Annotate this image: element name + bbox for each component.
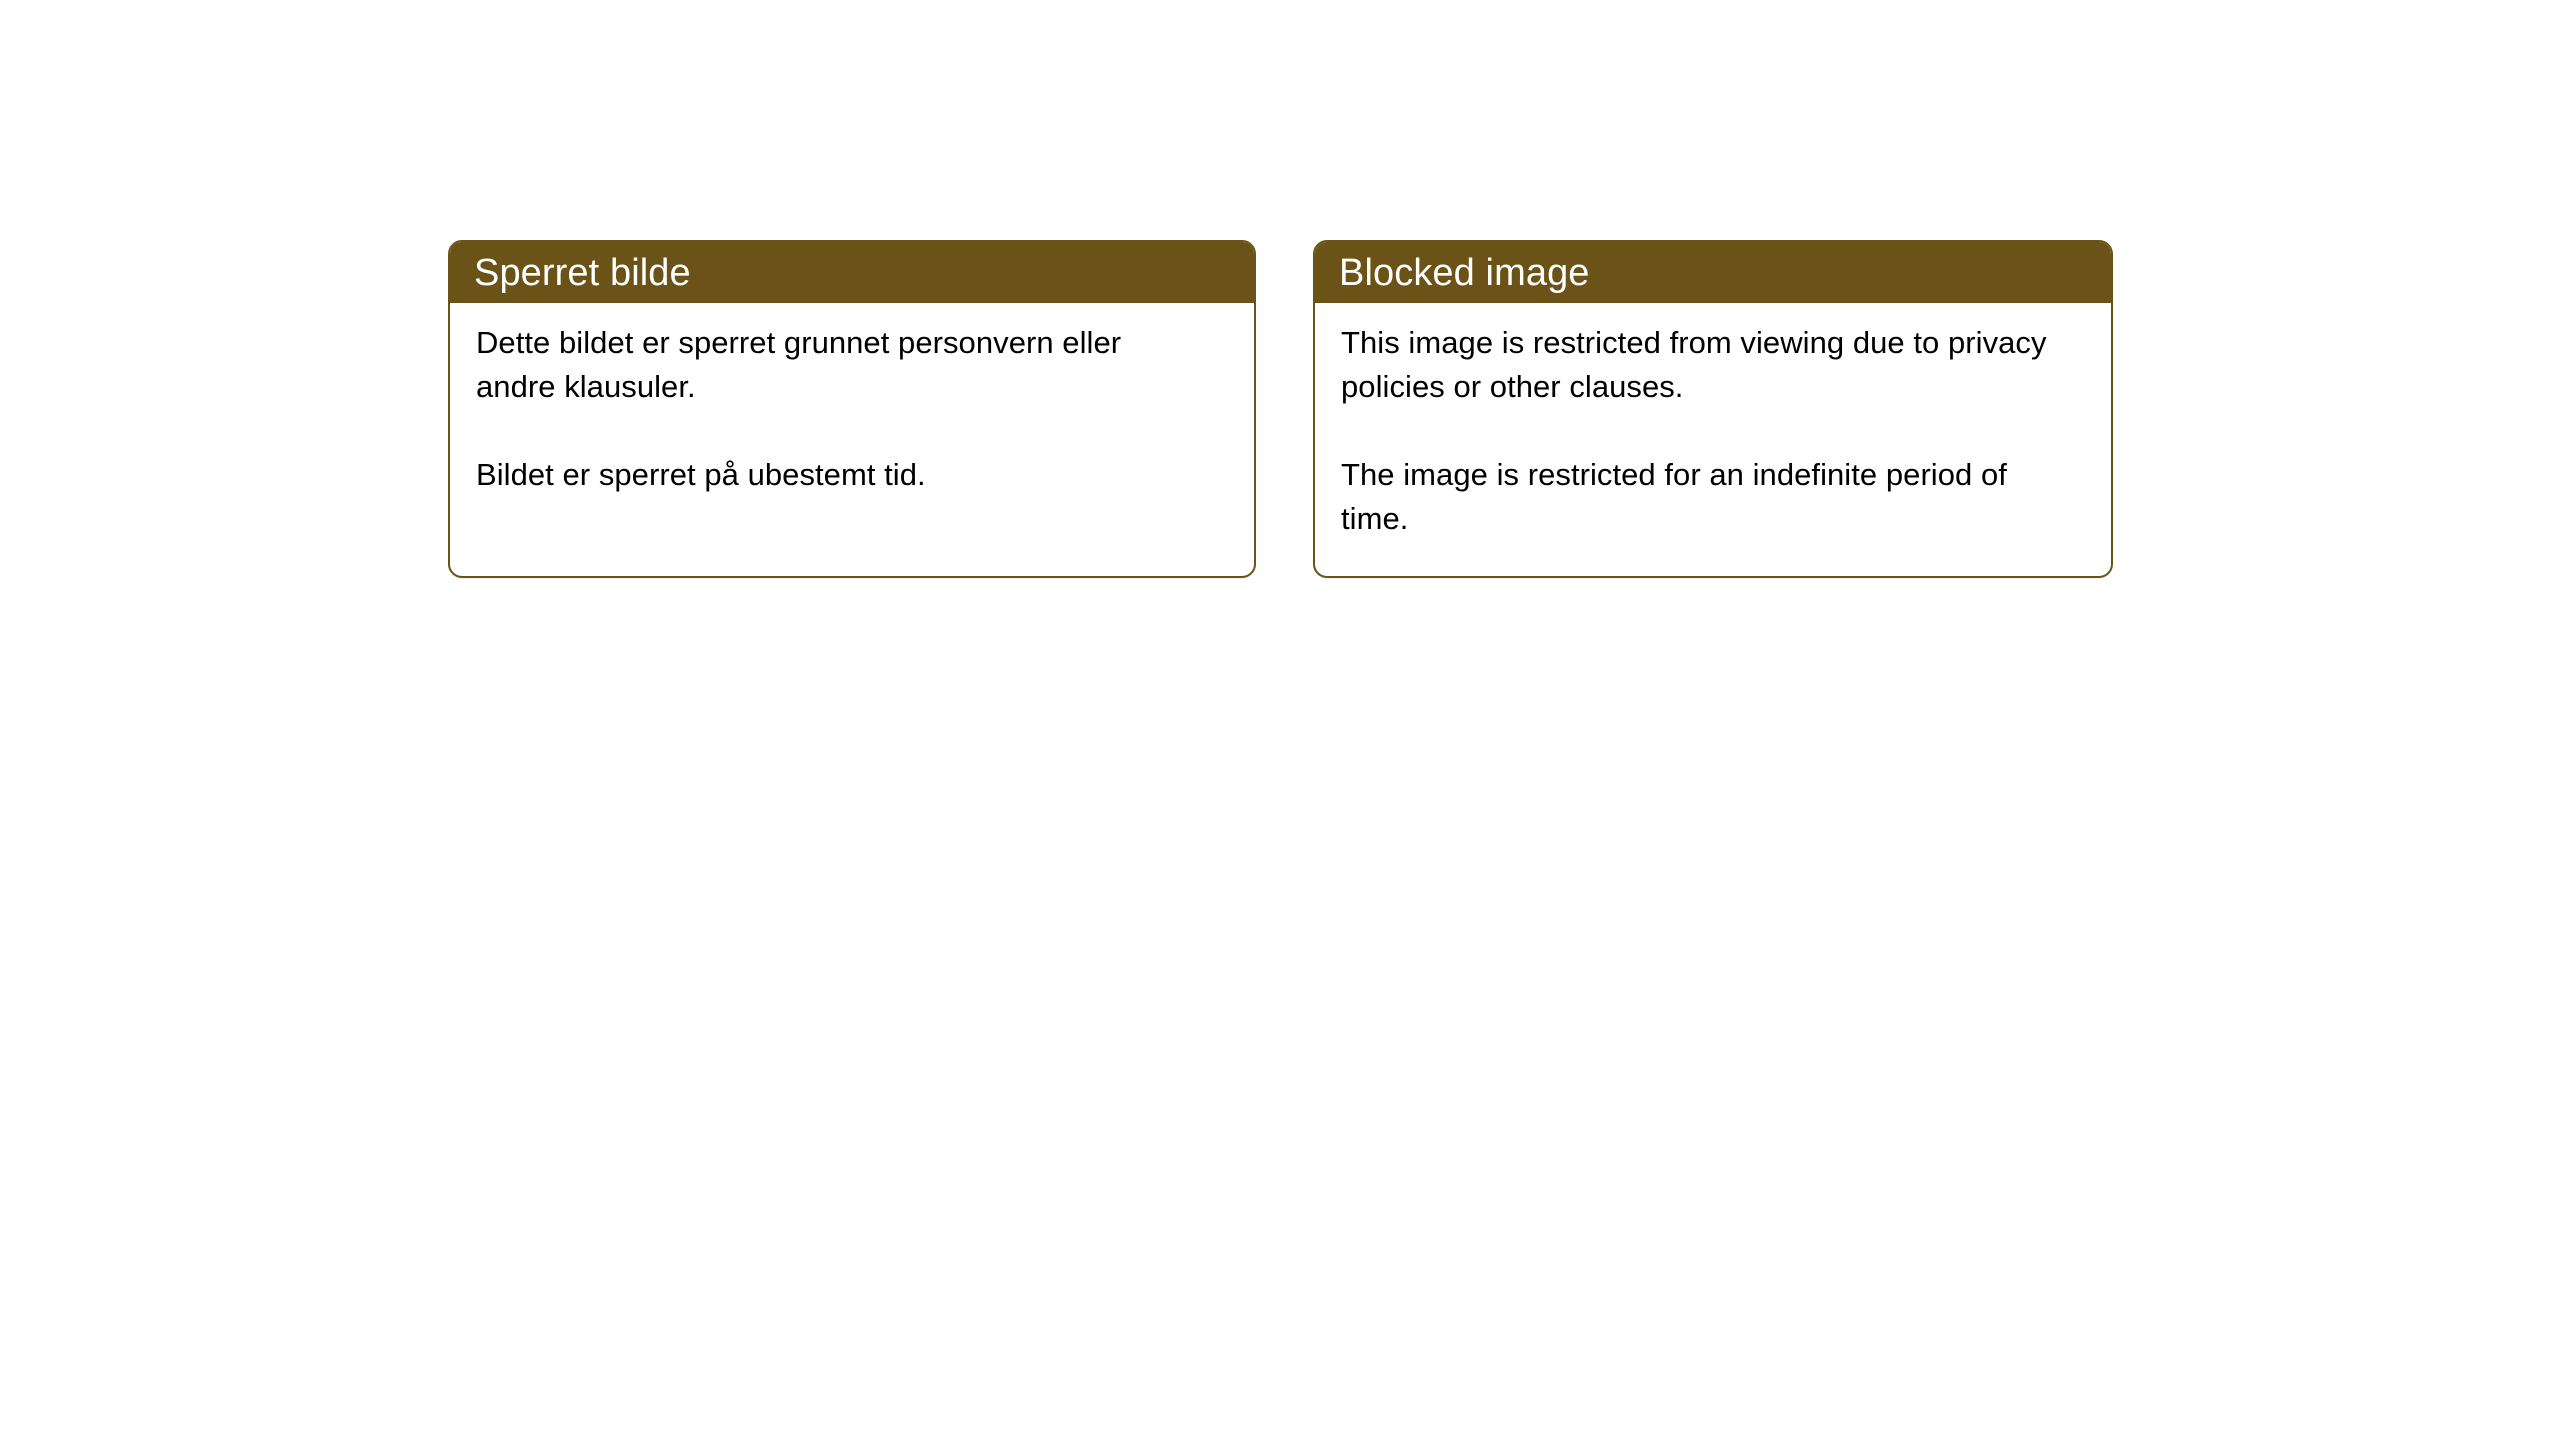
notice-cards-area: Sperret bilde Dette bildet er sperret gr… — [0, 0, 2560, 1440]
card-header-en: Blocked image — [1315, 242, 2111, 303]
card-title-no: Sperret bilde — [474, 254, 691, 292]
card-paragraph-primary-en: This image is restricted from viewing du… — [1341, 321, 2081, 409]
card-paragraph-secondary-en: The image is restricted for an indefinit… — [1341, 453, 2081, 541]
card-paragraph-primary-no: Dette bildet er sperret grunnet personve… — [476, 321, 1196, 409]
card-body-no: Dette bildet er sperret grunnet personve… — [450, 303, 1254, 497]
blocked-image-card-en: Blocked image This image is restricted f… — [1313, 240, 2113, 578]
card-body-en: This image is restricted from viewing du… — [1315, 303, 2111, 541]
blocked-image-card-no: Sperret bilde Dette bildet er sperret gr… — [448, 240, 1256, 578]
card-header-no: Sperret bilde — [450, 242, 1254, 303]
card-paragraph-secondary-no: Bildet er sperret på ubestemt tid. — [476, 453, 1196, 497]
card-title-en: Blocked image — [1339, 254, 1590, 292]
